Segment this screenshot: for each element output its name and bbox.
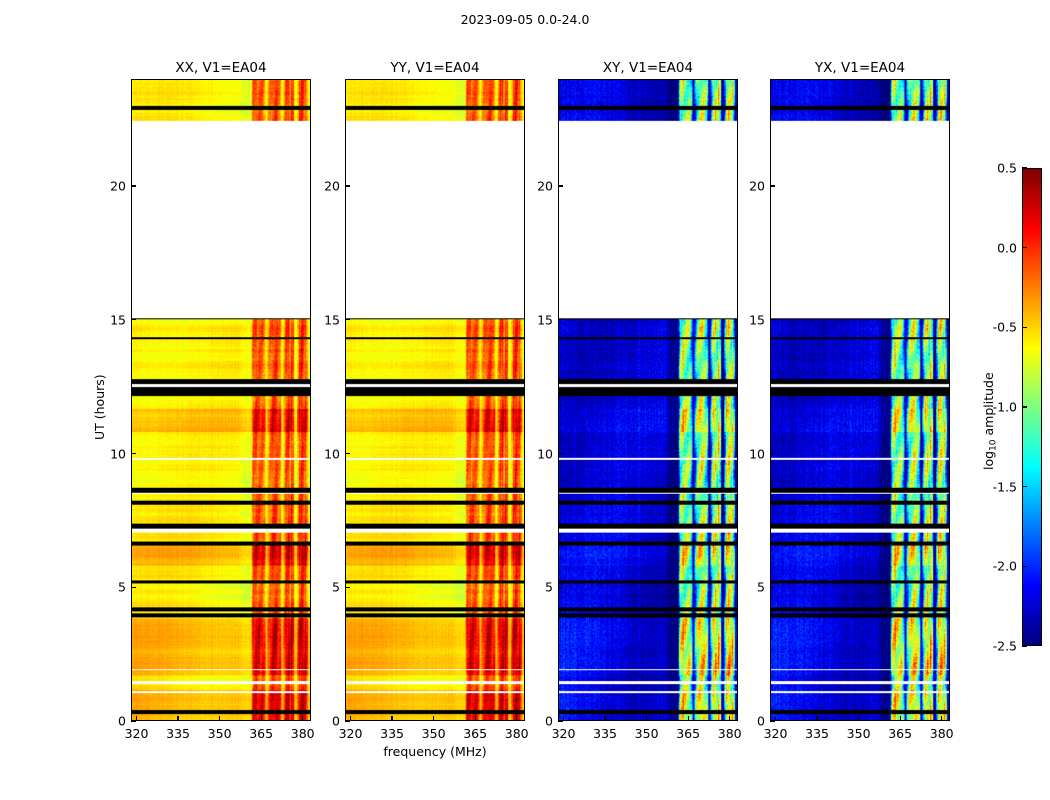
x-tick-mark-xy-4	[729, 716, 730, 721]
y-tick-mark-xx-4	[131, 185, 136, 186]
y-tick-mark-yx-4	[770, 185, 775, 186]
y-tick-label-xy-0: 0	[522, 714, 553, 729]
colorbar-tick-mark-1	[1022, 247, 1027, 248]
colorbar-tick-label-2: -0.5	[980, 320, 1017, 335]
x-tick-label-xx-0: 320	[125, 726, 149, 741]
y-tick-label-xy-1: 5	[522, 580, 553, 595]
x-tick-label-yx-3: 365	[888, 726, 912, 741]
y-tick-mark-xy-1	[558, 587, 563, 588]
x-tick-label-xy-3: 365	[676, 726, 700, 741]
x-tick-label-yy-2: 350	[422, 726, 446, 741]
figure-suptitle: 2023-09-05 0.0-24.0	[0, 12, 1050, 27]
figure-canvas: 2023-09-05 0.0-24.0 XX, V1=EA04 YY, V1=E…	[0, 0, 1050, 800]
y-tick-label-yy-0: 0	[309, 714, 340, 729]
x-tick-label-xy-2: 350	[635, 726, 659, 741]
y-tick-label-xy-4: 20	[522, 179, 553, 194]
x-tick-label-yx-0: 320	[764, 726, 788, 741]
heatmap-panel-xx[interactable]	[131, 79, 311, 721]
x-tick-mark-yx-1	[816, 716, 817, 721]
y-tick-mark-yx-1	[770, 587, 775, 588]
colorbar-tick-mark-3	[1022, 406, 1027, 407]
heatmap-canvas-yy	[346, 80, 524, 720]
heatmap-canvas-xx	[132, 80, 310, 720]
x-tick-mark-yy-4	[516, 716, 517, 721]
x-tick-label-yy-3: 365	[463, 726, 487, 741]
x-tick-label-yx-4: 380	[930, 726, 954, 741]
x-tick-mark-xx-2	[219, 716, 220, 721]
y-tick-mark-xx-0	[131, 720, 136, 721]
colorbar-tick-mark-2	[1022, 327, 1027, 328]
y-tick-label-yy-2: 10	[309, 446, 340, 461]
colorbar-tick-label-3: -1.0	[980, 400, 1017, 415]
x-tick-mark-xx-0	[136, 716, 137, 721]
x-tick-mark-yy-2	[433, 716, 434, 721]
y-tick-mark-yy-1	[345, 587, 350, 588]
x-tick-mark-xx-1	[177, 716, 178, 721]
colorbar-tick-label-5: -2.0	[980, 559, 1017, 574]
x-tick-mark-xx-4	[302, 716, 303, 721]
y-tick-mark-yx-2	[770, 453, 775, 454]
panel-title-xx: XX, V1=EA04	[131, 60, 311, 76]
y-tick-mark-yy-2	[345, 453, 350, 454]
y-tick-label-yy-3: 15	[309, 312, 340, 327]
y-tick-label-yy-1: 5	[309, 580, 340, 595]
x-tick-label-xx-2: 350	[208, 726, 232, 741]
y-tick-label-xx-1: 5	[95, 580, 126, 595]
y-tick-label-yx-4: 20	[734, 179, 765, 194]
colorbar-tick-label-6: -2.5	[980, 639, 1017, 654]
y-tick-label-yx-2: 10	[734, 446, 765, 461]
y-tick-mark-xx-1	[131, 587, 136, 588]
x-axis-label: frequency (MHz)	[338, 744, 532, 759]
y-tick-mark-yx-0	[770, 720, 775, 721]
x-tick-mark-xy-1	[604, 716, 605, 721]
x-tick-mark-yx-3	[900, 716, 901, 721]
x-tick-label-xx-3: 365	[249, 726, 273, 741]
y-axis-label: UT (hours)	[92, 374, 107, 440]
heatmap-canvas-xy	[559, 80, 737, 720]
colorbar-label: log10 amplitude	[981, 372, 998, 470]
y-tick-mark-xy-3	[558, 319, 563, 320]
x-tick-mark-yx-2	[858, 716, 859, 721]
x-tick-label-xy-1: 335	[593, 726, 617, 741]
colorbar-tick-mark-6	[1022, 645, 1027, 646]
x-tick-mark-yy-1	[391, 716, 392, 721]
x-tick-label-yx-2: 350	[847, 726, 871, 741]
y-tick-label-xy-2: 10	[522, 446, 553, 461]
y-tick-mark-yy-4	[345, 185, 350, 186]
y-tick-mark-yy-0	[345, 720, 350, 721]
y-tick-mark-xx-2	[131, 453, 136, 454]
x-tick-mark-xx-3	[261, 716, 262, 721]
y-tick-mark-yx-3	[770, 319, 775, 320]
y-tick-mark-xx-3	[131, 319, 136, 320]
y-tick-label-xx-0: 0	[95, 714, 126, 729]
heatmap-panel-yy[interactable]	[345, 79, 525, 721]
y-tick-label-xx-2: 10	[95, 446, 126, 461]
x-tick-mark-xy-0	[563, 716, 564, 721]
y-tick-mark-xy-0	[558, 720, 563, 721]
panel-title-xy: XY, V1=EA04	[558, 60, 738, 76]
colorbar-tick-label-1: 0.0	[980, 240, 1017, 255]
x-tick-label-xx-1: 335	[166, 726, 190, 741]
x-tick-mark-yx-4	[941, 716, 942, 721]
y-tick-label-xx-4: 20	[95, 179, 126, 194]
panel-title-yy: YY, V1=EA04	[345, 60, 525, 76]
y-tick-label-yx-3: 15	[734, 312, 765, 327]
heatmap-canvas-yx	[771, 80, 949, 720]
x-tick-mark-xy-3	[688, 716, 689, 721]
colorbar-tick-mark-4	[1022, 486, 1027, 487]
colorbar-tick-mark-5	[1022, 566, 1027, 567]
y-tick-label-xx-3: 15	[95, 312, 126, 327]
x-tick-label-yy-0: 320	[339, 726, 363, 741]
y-tick-mark-xy-4	[558, 185, 563, 186]
x-tick-mark-xy-2	[646, 716, 647, 721]
x-tick-label-yy-1: 335	[380, 726, 404, 741]
colorbar-label-subscript: 10	[988, 439, 998, 450]
colorbar-label-prefix: log	[981, 451, 996, 470]
y-tick-label-yx-1: 5	[734, 580, 765, 595]
y-tick-label-xy-3: 15	[522, 312, 553, 327]
x-tick-mark-yy-0	[350, 716, 351, 721]
colorbar-tick-mark-0	[1022, 167, 1027, 168]
x-tick-label-xy-0: 320	[552, 726, 576, 741]
y-tick-mark-xy-2	[558, 453, 563, 454]
heatmap-panel-yx[interactable]	[770, 79, 950, 721]
panel-title-yx: YX, V1=EA04	[770, 60, 950, 76]
y-tick-label-yy-4: 20	[309, 179, 340, 194]
x-tick-mark-yx-0	[775, 716, 776, 721]
x-tick-label-yx-1: 335	[805, 726, 829, 741]
colorbar-tick-label-0: 0.5	[980, 161, 1017, 176]
y-tick-mark-yy-3	[345, 319, 350, 320]
heatmap-panel-xy[interactable]	[558, 79, 738, 721]
x-tick-mark-yy-3	[475, 716, 476, 721]
colorbar-tick-label-4: -1.5	[980, 479, 1017, 494]
y-tick-label-yx-0: 0	[734, 714, 765, 729]
